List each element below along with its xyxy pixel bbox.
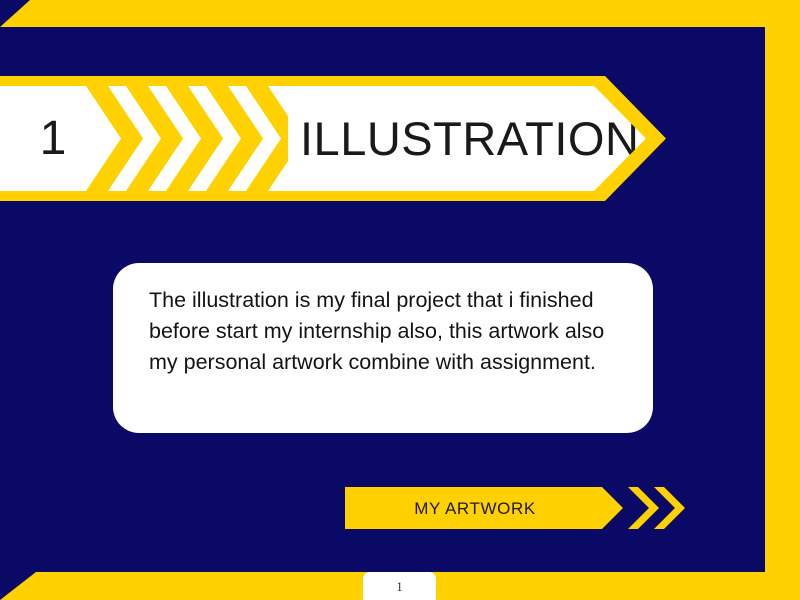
page-number-tab: 1	[363, 572, 436, 600]
page-number-label: 1	[396, 580, 403, 593]
description-card: The illustration is my final project tha…	[113, 263, 653, 433]
page-title: ILLUSTRATION	[300, 86, 630, 191]
slide-number: 1	[22, 86, 84, 191]
description-text: The illustration is my final project tha…	[149, 285, 623, 378]
my-artwork-cta[interactable]: MY ARTWORK	[345, 487, 685, 529]
chevron-stripe-pattern	[86, 86, 288, 191]
my-artwork-label: MY ARTWORK	[414, 500, 536, 517]
banner-inner-arrow: 1 ILLUSTRATION	[0, 86, 646, 191]
header-banner: 1 ILLUSTRATION	[0, 76, 666, 201]
slide-canvas: 1 ILLUSTRATION The illustration is my fi…	[0, 0, 800, 600]
double-chevron-right-icon	[628, 487, 688, 529]
frame-top-bar	[0, 0, 800, 27]
frame-right-bar	[765, 0, 800, 600]
my-artwork-button[interactable]: MY ARTWORK	[345, 487, 623, 529]
